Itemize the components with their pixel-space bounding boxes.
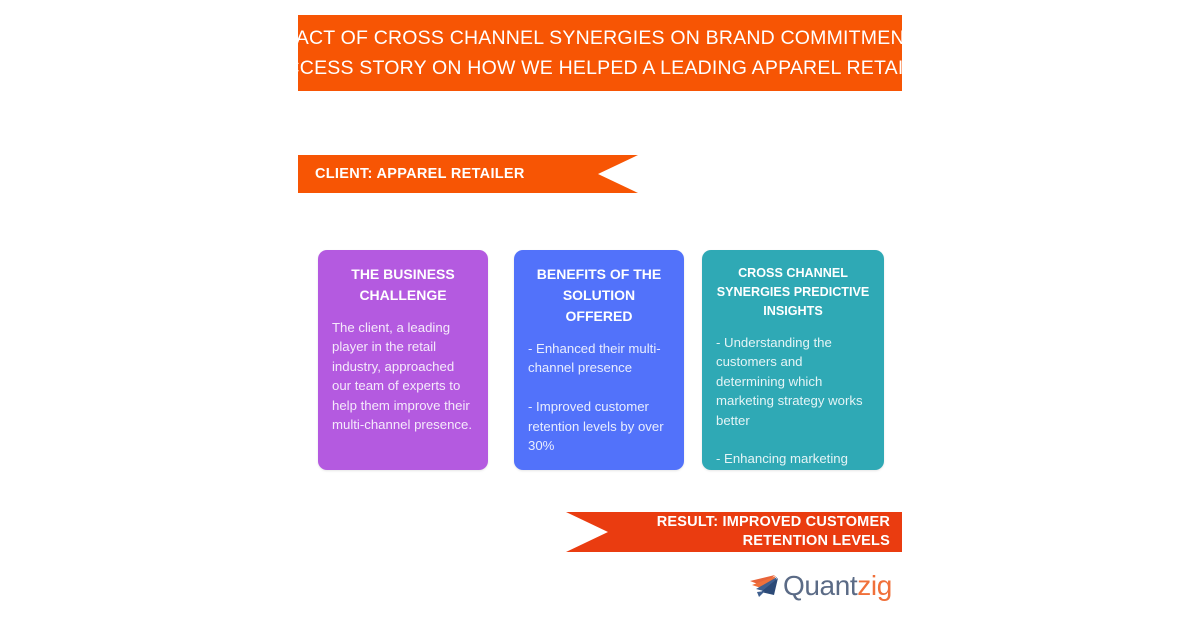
logo-word-zig: zig xyxy=(857,570,892,601)
infographic-canvas: IMPACT OF CROSS CHANNEL SYNERGIES ON BRA… xyxy=(0,0,1200,627)
header-title-line-2: SUCCESS STORY ON HOW WE HELPED A LEADING… xyxy=(258,53,942,83)
card-body: The client, a leading player in the reta… xyxy=(332,318,474,434)
logo-wordmark: Quantzig xyxy=(783,571,892,601)
client-banner-label: CLIENT: APPAREL RETAILER xyxy=(315,166,525,182)
result-banner: RESULT: IMPROVED CUSTOMER RETENTION LEVE… xyxy=(566,512,902,552)
card-business-challenge: THE BUSINESS CHALLENGE The client, a lea… xyxy=(318,250,488,470)
card-title: CROSS CHANNEL SYNERGIES PREDICTIVE INSIG… xyxy=(716,264,870,321)
chevron-left-notch-icon xyxy=(598,155,638,193)
quantzig-logo: Quantzig xyxy=(748,566,893,606)
quantzig-arrow-mark-icon xyxy=(748,572,782,600)
card-title: BENEFITS OF THE SOLUTION OFFERED xyxy=(528,264,670,327)
card-benefits-of-solution: BENEFITS OF THE SOLUTION OFFERED - Enhan… xyxy=(514,250,684,470)
client-banner: CLIENT: APPAREL RETAILER xyxy=(298,155,638,193)
card-predictive-insights: CROSS CHANNEL SYNERGIES PREDICTIVE INSIG… xyxy=(702,250,884,470)
card-title: THE BUSINESS CHALLENGE xyxy=(332,264,474,306)
header-banner: IMPACT OF CROSS CHANNEL SYNERGIES ON BRA… xyxy=(298,15,902,91)
chevron-right-notch-icon xyxy=(566,512,608,552)
card-body: - Understanding the customers and determ… xyxy=(716,333,870,470)
header-title-line-1: IMPACT OF CROSS CHANNEL SYNERGIES ON BRA… xyxy=(262,23,938,53)
card-body: - Enhanced their multi-channel presence … xyxy=(528,339,670,455)
result-banner-label: RESULT: IMPROVED CUSTOMER RETENTION LEVE… xyxy=(657,513,890,551)
logo-word-quant: Quant xyxy=(783,570,857,601)
